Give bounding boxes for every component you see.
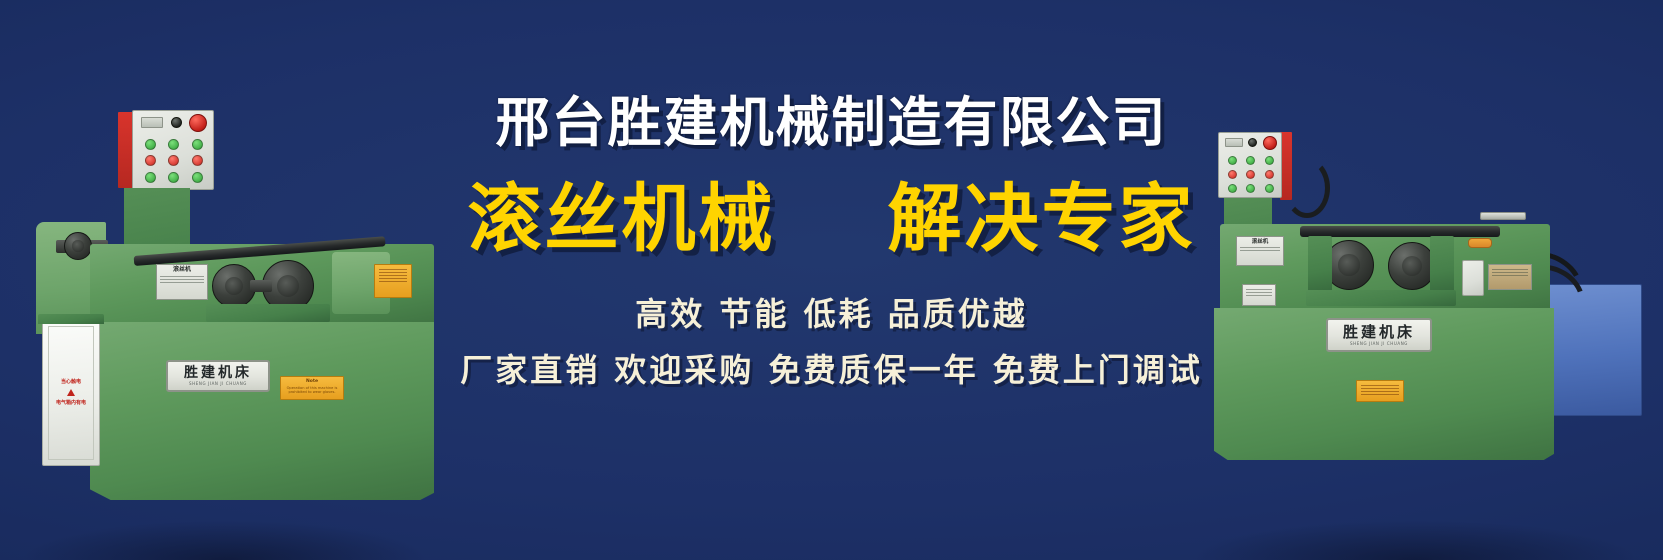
roller-link-shaft (250, 280, 272, 292)
brand-name-en: SHENG JIAN JI CHUANG (1350, 342, 1408, 346)
panel-button[interactable] (145, 139, 156, 150)
brand-name-cn: 胜建机床 (184, 366, 252, 380)
left-machine-photo: 滚丝机 胜建机床 SHENG JIAN JI CHUANG Note Opera… (14, 104, 434, 504)
headline-right: 解决专家 (888, 182, 1196, 256)
panel-selector-knob[interactable] (171, 117, 182, 128)
panel-cable-conduit (1284, 158, 1330, 218)
glove-warning-label: Note Operation of this machine is prohib… (280, 376, 344, 400)
roller-base-slide (1306, 290, 1456, 306)
brand-name-cn: 胜建机床 (1343, 325, 1415, 340)
roller-die-head-right (1388, 242, 1436, 290)
panel-button[interactable] (1265, 184, 1274, 193)
measuring-gauge-box (1462, 260, 1484, 296)
right-machine-ground-shadow (1190, 520, 1640, 560)
panel-button[interactable] (168, 139, 179, 150)
panel-button-grid[interactable] (1224, 154, 1278, 194)
right-machine-control-panel (1218, 132, 1292, 200)
cabinet-warning-text: 当心触电 电气箱内有电 (43, 379, 99, 407)
panel-display (1225, 138, 1243, 147)
terminal-block (1468, 238, 1492, 248)
headline-row: 滚丝机械 解决专家 (468, 182, 1196, 256)
brand-nameplate: 胜建机床 SHENG JIAN JI CHUANG (166, 360, 270, 392)
panel-button[interactable] (192, 139, 203, 150)
work-support-arm (1480, 212, 1526, 220)
secondary-spec-plate (1242, 284, 1276, 306)
panel-display (141, 117, 163, 128)
electrical-cabinet: 当心触电 电气箱内有电 (42, 320, 100, 466)
left-shaft-flange (64, 232, 92, 260)
panel-button[interactable] (1228, 156, 1237, 165)
spec-plate-title: 滚丝机 (1239, 239, 1281, 245)
panel-button[interactable] (1265, 170, 1274, 179)
headline-left: 滚丝机械 (468, 182, 776, 256)
emergency-stop-button[interactable] (1263, 136, 1277, 150)
panel-button[interactable] (192, 172, 203, 183)
panel-button[interactable] (192, 155, 203, 166)
cabinet-warning-line1: 当心触电 (61, 379, 81, 385)
panel-button[interactable] (1228, 170, 1237, 179)
panel-button[interactable] (1265, 156, 1274, 165)
panel-button[interactable] (145, 172, 156, 183)
machine-spec-plate: 滚丝机 (156, 264, 208, 300)
electric-hazard-icon (67, 389, 75, 396)
feature-line: 高效 节能 低耗 品质优越 (635, 298, 1027, 330)
promise-line: 厂家直销 欢迎采购 免费质保一年 免费上门调试 (460, 354, 1202, 386)
brand-name-en: SHENG JIAN JI CHUANG (189, 382, 247, 386)
emergency-stop-button[interactable] (189, 114, 207, 132)
panel-button[interactable] (168, 155, 179, 166)
right-machine-photo: 滚丝机 胜建机床 SHENG JIAN JI CHUANG (1180, 132, 1650, 472)
upper-warning-label (374, 264, 412, 298)
panel-button[interactable] (145, 155, 156, 166)
panel-button[interactable] (1228, 184, 1237, 193)
panel-button[interactable] (168, 172, 179, 183)
promo-banner: 滚丝机 胜建机床 SHENG JIAN JI CHUANG Note Opera… (0, 0, 1663, 560)
panel-button[interactable] (1246, 170, 1255, 179)
panel-button-grid[interactable] (140, 137, 208, 185)
brand-nameplate: 胜建机床 SHENG JIAN JI CHUANG (1326, 318, 1432, 352)
panel-button[interactable] (1246, 156, 1255, 165)
warning-label-title: Note (285, 380, 339, 385)
instruction-plate (1488, 264, 1532, 290)
spec-plate-title: 滚丝机 (159, 267, 205, 274)
machine-main-body (90, 322, 434, 500)
body-warning-label (1356, 380, 1404, 402)
left-machine-ground-shadow (20, 520, 430, 560)
panel-face (1218, 132, 1282, 198)
panel-selector-knob[interactable] (1248, 138, 1257, 147)
cabinet-warning-line2: 电气箱内有电 (56, 400, 86, 406)
roller-base-slide (206, 304, 330, 322)
die-head-carrier-right (1430, 236, 1454, 294)
company-name: 邢台胜建机械制造有限公司 (496, 96, 1168, 150)
left-machine-control-panel (118, 110, 214, 192)
panel-button[interactable] (1246, 184, 1255, 193)
warning-label-text: Operation of this machine is prohibited … (285, 386, 339, 395)
die-head-carrier-left (1308, 236, 1332, 294)
panel-face (132, 110, 214, 190)
machine-spec-plate: 滚丝机 (1236, 236, 1284, 266)
cabinet-mount-bracket (38, 314, 104, 324)
